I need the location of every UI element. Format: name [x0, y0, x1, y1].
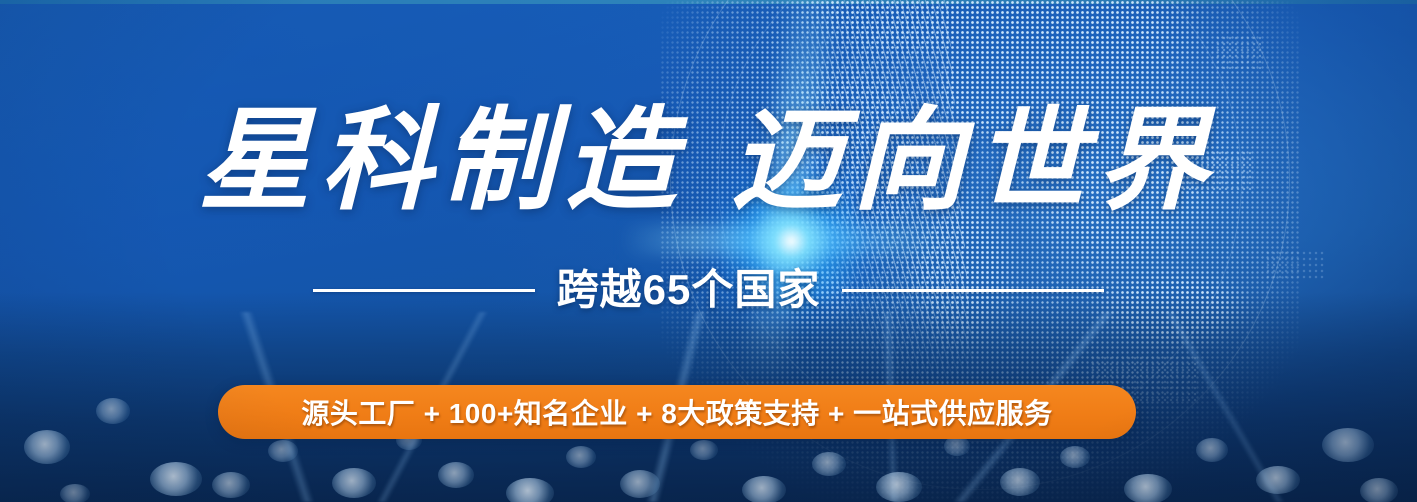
- subtitle-row: 跨越65个国家: [0, 269, 1417, 311]
- headline-part-1: 星科制造: [199, 100, 687, 224]
- subtitle: 跨越65个国家: [557, 269, 821, 311]
- headline: 星科制造迈向世界: [0, 104, 1417, 222]
- headline-part-2: 迈向世界: [731, 100, 1219, 224]
- divider-right: [842, 289, 1104, 292]
- top-accent-rule: [0, 0, 1417, 4]
- cta-pill-label: 源头工厂 + 100+知名企业 + 8大政策支持 + 一站式供应服务: [301, 392, 1052, 432]
- dot-cluster-icon: [1215, 35, 1261, 69]
- cta-pill[interactable]: 源头工厂 + 100+知名企业 + 8大政策支持 + 一站式供应服务: [218, 385, 1136, 439]
- divider-left: [313, 289, 535, 292]
- promo-banner: 星科制造迈向世界 跨越65个国家 源头工厂 + 100+知名企业 + 8大政策支…: [0, 0, 1417, 502]
